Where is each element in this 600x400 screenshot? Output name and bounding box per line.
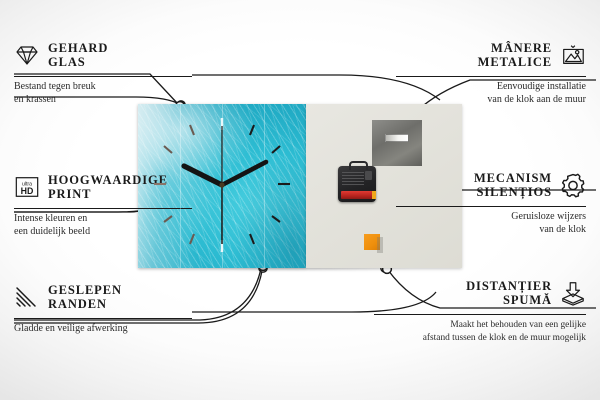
feature-spacer-rule	[374, 314, 586, 315]
metal-hanger-plate	[372, 120, 422, 166]
feature-glass-rule	[14, 76, 192, 77]
picture-frame-icon	[560, 42, 586, 68]
foam-spacer	[364, 234, 380, 250]
clock-front-panel	[138, 104, 306, 268]
feature-mechanism-rule	[396, 206, 586, 207]
hands-pivot	[219, 182, 224, 187]
mechanism-grill	[342, 172, 364, 185]
feature-handles-title: MÂNERE METALICE	[478, 41, 552, 69]
feature-spacer-title: DISTANȚIER SPUMĂ	[466, 279, 552, 307]
feature-edges-description: Gladde en veilige afwerking	[14, 323, 226, 336]
feature-spacer-description: Maakt het behouden van een gelijke afsta…	[374, 319, 586, 344]
feature-mechanism-description: Geruisloze wijzers van de klok	[374, 211, 586, 236]
mechanism-knob	[365, 171, 372, 180]
clock-hands	[184, 126, 266, 244]
feature-glass: GEHARD GLAS Bestand tegen breuk en krass…	[14, 36, 226, 106]
feature-edges: GESLEPEN RANDEN Gladde en veilige afwerk…	[14, 278, 226, 336]
feature-spacer: DISTANȚIER SPUMĂ Maakt het behouden van …	[374, 274, 586, 344]
hanger-slot	[385, 134, 409, 142]
feature-glass-description: Bestand tegen breuk en krassen	[14, 81, 226, 106]
hour-hand	[184, 166, 222, 185]
mechanism-hook	[349, 161, 368, 170]
feature-handles-rule	[396, 76, 586, 77]
feature-glass-title: GEHARD GLAS	[48, 41, 108, 69]
quartz-mechanism-box	[338, 166, 376, 202]
feature-edges-rule	[14, 318, 192, 319]
feature-handles-description: Eenvoudige installatie van de klok aan d…	[374, 81, 586, 106]
infographic-canvas: GEHARD GLAS Bestand tegen breuk en krass…	[0, 0, 600, 400]
clock-face	[138, 104, 306, 268]
diamond-icon	[14, 42, 40, 68]
spacer-arrow-icon	[560, 280, 586, 306]
ultra-hd-icon: ultra HD	[14, 174, 40, 200]
feature-mechanism: MECANISM SILENȚIOS Geruisloze wijzers va…	[374, 166, 586, 236]
feature-edges-title: GESLEPEN RANDEN	[48, 283, 122, 311]
svg-text:HD: HD	[21, 186, 34, 196]
battery	[341, 191, 373, 199]
feature-handles: MÂNERE METALICE Eenvoudige installatie v…	[374, 36, 586, 106]
beveled-edges-icon	[14, 284, 40, 310]
battery-terminal	[372, 191, 376, 199]
feature-mechanism-title: MECANISM SILENȚIOS	[474, 171, 552, 199]
gear-icon	[560, 172, 586, 198]
minute-hand	[222, 162, 266, 185]
